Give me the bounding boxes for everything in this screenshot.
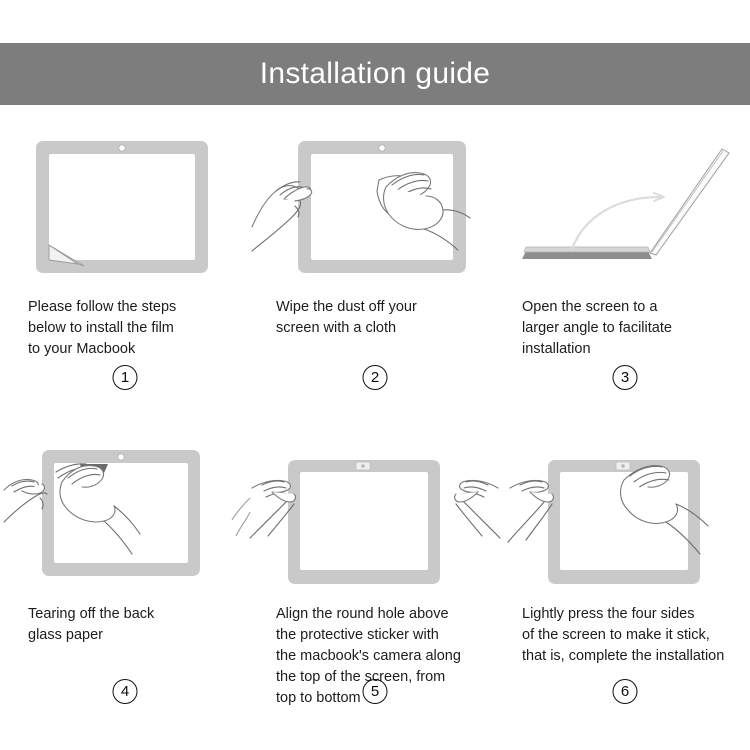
right-hand-icon <box>455 480 500 538</box>
header-bar: Installation guide <box>0 43 750 105</box>
step-2-caption: Wipe the dust off your screen with a clo… <box>276 297 476 339</box>
step-card-4: Tearing off the back glass paper 4 <box>0 412 250 750</box>
step-5-illustration <box>250 440 500 590</box>
partial-next-panel-edge <box>232 498 250 536</box>
step-card-5: Align the round hole above the protectiv… <box>250 412 500 750</box>
step-3-illustration <box>500 133 750 283</box>
step-1-illustration <box>0 133 250 283</box>
macbook-screen-icon <box>548 460 700 584</box>
step-4-illustration <box>0 440 250 590</box>
macbook-screen-icon <box>42 450 200 576</box>
laptop-side-profile-icon <box>522 149 729 259</box>
step-number-3: 3 <box>613 365 638 390</box>
step-card-1: Please follow the steps below to install… <box>0 105 250 412</box>
step-card-6: Lightly press the four sides of the scre… <box>500 412 750 750</box>
left-hand-icon <box>4 479 47 522</box>
macbook-screen-icon <box>288 460 440 584</box>
step-card-3: Open the screen to a larger angle to fac… <box>500 105 750 412</box>
step-6-illustration <box>500 440 750 590</box>
installation-steps-grid: Please follow the steps below to install… <box>0 105 750 750</box>
step-6-caption: Lightly press the four sides of the scre… <box>522 604 742 667</box>
step-number-4: 4 <box>113 679 138 704</box>
step-number-2: 2 <box>363 365 388 390</box>
step-number-1: 1 <box>113 365 138 390</box>
step-card-2: Wipe the dust off your screen with a clo… <box>250 105 500 412</box>
left-hand-icon <box>508 480 553 542</box>
step-2-illustration <box>250 133 500 283</box>
step-number-6: 6 <box>613 679 638 704</box>
step-number-5: 5 <box>363 679 388 704</box>
page-title: Installation guide <box>260 59 491 89</box>
step-4-caption: Tearing off the back glass paper <box>28 604 226 646</box>
step-3-caption: Open the screen to a larger angle to fac… <box>522 297 742 360</box>
step-1-caption: Please follow the steps below to install… <box>28 297 226 360</box>
open-angle-arc-icon <box>572 193 664 249</box>
